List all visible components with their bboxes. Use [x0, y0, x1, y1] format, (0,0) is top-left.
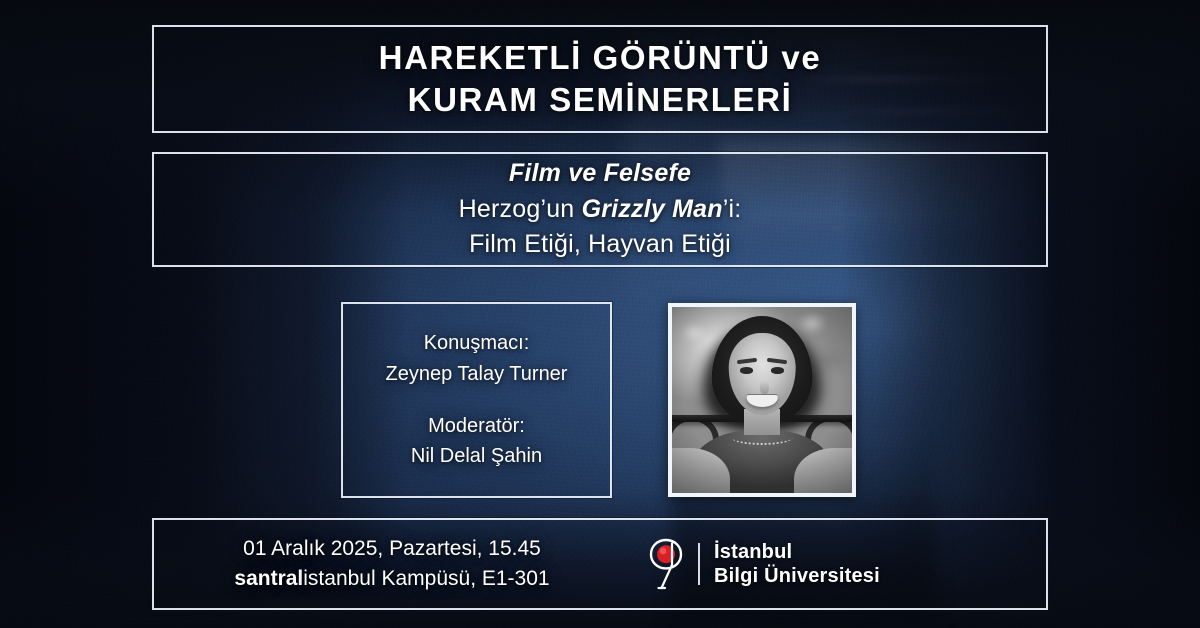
subtitle-line-3: Film Etiği, Hayvan Etiği [469, 227, 731, 263]
event-venue: santralistanbul Kampüsü, E1-301 [234, 564, 549, 594]
subtitle-line-2-prefix: Herzog’un [459, 195, 582, 223]
event-details: 01 Aralık 2025, Pazartesi, 15.45 santral… [182, 528, 602, 600]
page-title: HAREKETLİ GÖRÜNTÜ ve KURAM SEMİNERLERİ [152, 25, 1048, 133]
portrait-photo [672, 307, 852, 493]
seminar-poster: HAREKETLİ GÖRÜNTÜ ve KURAM SEMİNERLERİ F… [0, 0, 1200, 628]
moderator-name: Nil Delal Şahin [411, 441, 542, 471]
subtitle-line-2-film-title: Grizzly Man [582, 195, 723, 223]
subtitle: Film ve Felsefe Herzog’un Grizzly Man’i:… [152, 152, 1048, 267]
logo-text-line-2: Bilgi Üniversitesi [714, 564, 880, 588]
venue-campus-rest: istanbul Kampüsü, E1-301 [303, 567, 549, 590]
title-line-1: HAREKETLİ GÖRÜNTÜ ve [379, 37, 822, 79]
avatar [668, 303, 856, 497]
portrait-vignette [672, 307, 852, 493]
bilgi-balloon-icon [648, 538, 684, 590]
subtitle-line-2-suffix: ’i: [723, 195, 742, 223]
venue-campus-brand: santral [234, 567, 303, 590]
moderator-label: Moderatör: [428, 411, 525, 441]
speaker-info: Konuşmacı: Zeynep Talay Turner Moderatör… [341, 302, 612, 498]
university-logo: İstanbul Bilgi Üniversitesi [648, 533, 898, 595]
subtitle-line-2: Herzog’un Grizzly Man’i: [459, 192, 742, 228]
logo-text: İstanbul Bilgi Üniversitesi [714, 540, 880, 589]
title-line-2: KURAM SEMİNERLERİ [408, 79, 793, 121]
speaker-label: Konuşmacı: [424, 328, 530, 358]
logo-text-line-1: İstanbul [714, 540, 880, 564]
speaker-name: Zeynep Talay Turner [386, 359, 568, 389]
logo-divider [698, 543, 700, 585]
subtitle-line-1: Film ve Felsefe [509, 156, 691, 192]
event-datetime: 01 Aralık 2025, Pazartesi, 15.45 [243, 534, 541, 564]
